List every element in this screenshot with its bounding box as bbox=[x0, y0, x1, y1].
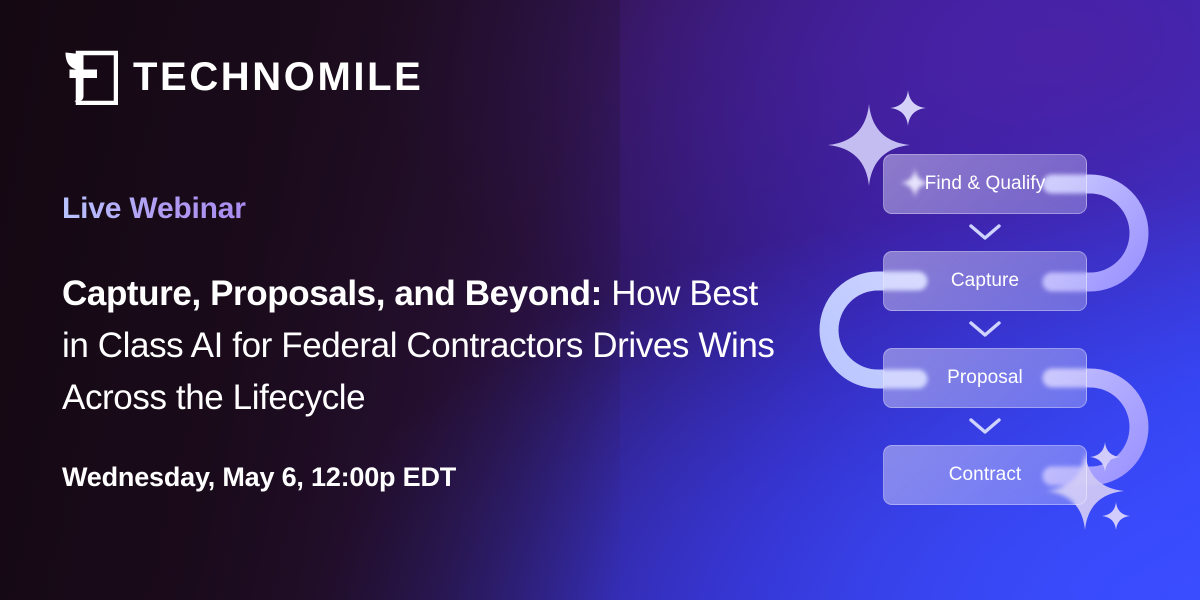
sparkle-icon bbox=[890, 90, 926, 126]
flow-step-label: Find & Qualify bbox=[925, 173, 1046, 195]
page-title: Capture, Proposals, and Beyond: How Best… bbox=[62, 268, 782, 424]
chevron-down-icon bbox=[966, 413, 1004, 439]
flow-step-label: Capture bbox=[951, 270, 1019, 292]
chevron-down-icon bbox=[966, 219, 1004, 245]
headline-emphasis: Capture, Proposals, and Beyond: bbox=[62, 274, 602, 313]
webinar-promo-banner: TECHNOMILE Live Webinar Capture, Proposa… bbox=[0, 0, 1200, 600]
technomile-logo[interactable]: TECHNOMILE bbox=[62, 49, 423, 105]
technomile-t-square-mark-icon bbox=[62, 49, 118, 105]
flow-step-contract[interactable]: Contract bbox=[883, 445, 1087, 505]
flow-step-label: Proposal bbox=[947, 367, 1023, 389]
flow-step-proposal[interactable]: Proposal bbox=[883, 348, 1087, 408]
flow-step-capture[interactable]: Capture bbox=[883, 251, 1087, 311]
chevron-down-icon bbox=[966, 316, 1004, 342]
logo-mark-svg bbox=[62, 49, 118, 105]
flow-step-find-qualify[interactable]: Find & Qualify bbox=[883, 154, 1087, 214]
sparkle-icon bbox=[1102, 502, 1130, 530]
sparkle-icon bbox=[1090, 442, 1120, 472]
flow-step-label: Contract bbox=[949, 464, 1022, 486]
eyebrow-label: Live Webinar bbox=[62, 192, 246, 226]
lifecycle-flow-graphic: Find & Qualify Capture Proposal Contract bbox=[790, 90, 1200, 560]
event-datetime: Wednesday, May 6, 12:00p EDT bbox=[62, 462, 456, 493]
logo-wordmark: TECHNOMILE bbox=[133, 57, 423, 97]
